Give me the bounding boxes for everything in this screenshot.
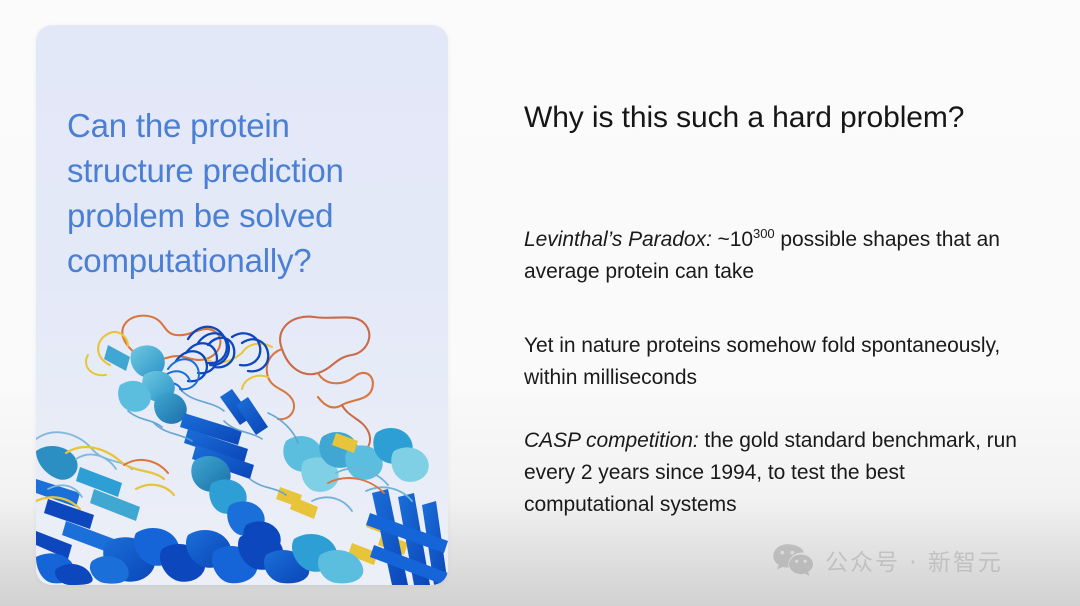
paragraph-casp-competition: CASP competition: the gold standard benc… — [524, 425, 1024, 521]
slide-canvas: Can the protein structure prediction pro… — [0, 0, 1080, 606]
paragraph-text: Yet in nature proteins somehow fold spon… — [524, 334, 1000, 389]
wechat-icon — [772, 543, 814, 577]
paragraph-lead-label: Levinthal’s Paradox: — [524, 228, 712, 251]
protein-ribbon-structure-image — [36, 293, 448, 585]
paragraph-levinthals-paradox: Levinthal’s Paradox: ~10300 possible sha… — [524, 224, 1024, 288]
left-card-heading: Can the protein structure prediction pro… — [67, 103, 413, 283]
paragraph-text-before-superscript: ~10 — [712, 228, 753, 251]
page-title: Why is this such a hard problem? — [524, 99, 964, 137]
watermark: 公众号 · 新智元 — [772, 543, 1003, 577]
watermark-label: 公众号 · 新智元 — [825, 543, 1003, 577]
left-illustration-card: Can the protein structure prediction pro… — [36, 25, 448, 585]
paragraph-natural-folding: Yet in nature proteins somehow fold spon… — [524, 330, 1024, 394]
right-text-panel: Why is this such a hard problem? Levinth… — [524, 0, 1064, 606]
paragraph-lead-label: CASP competition: — [524, 429, 699, 452]
exponent-superscript: 300 — [753, 226, 775, 241]
